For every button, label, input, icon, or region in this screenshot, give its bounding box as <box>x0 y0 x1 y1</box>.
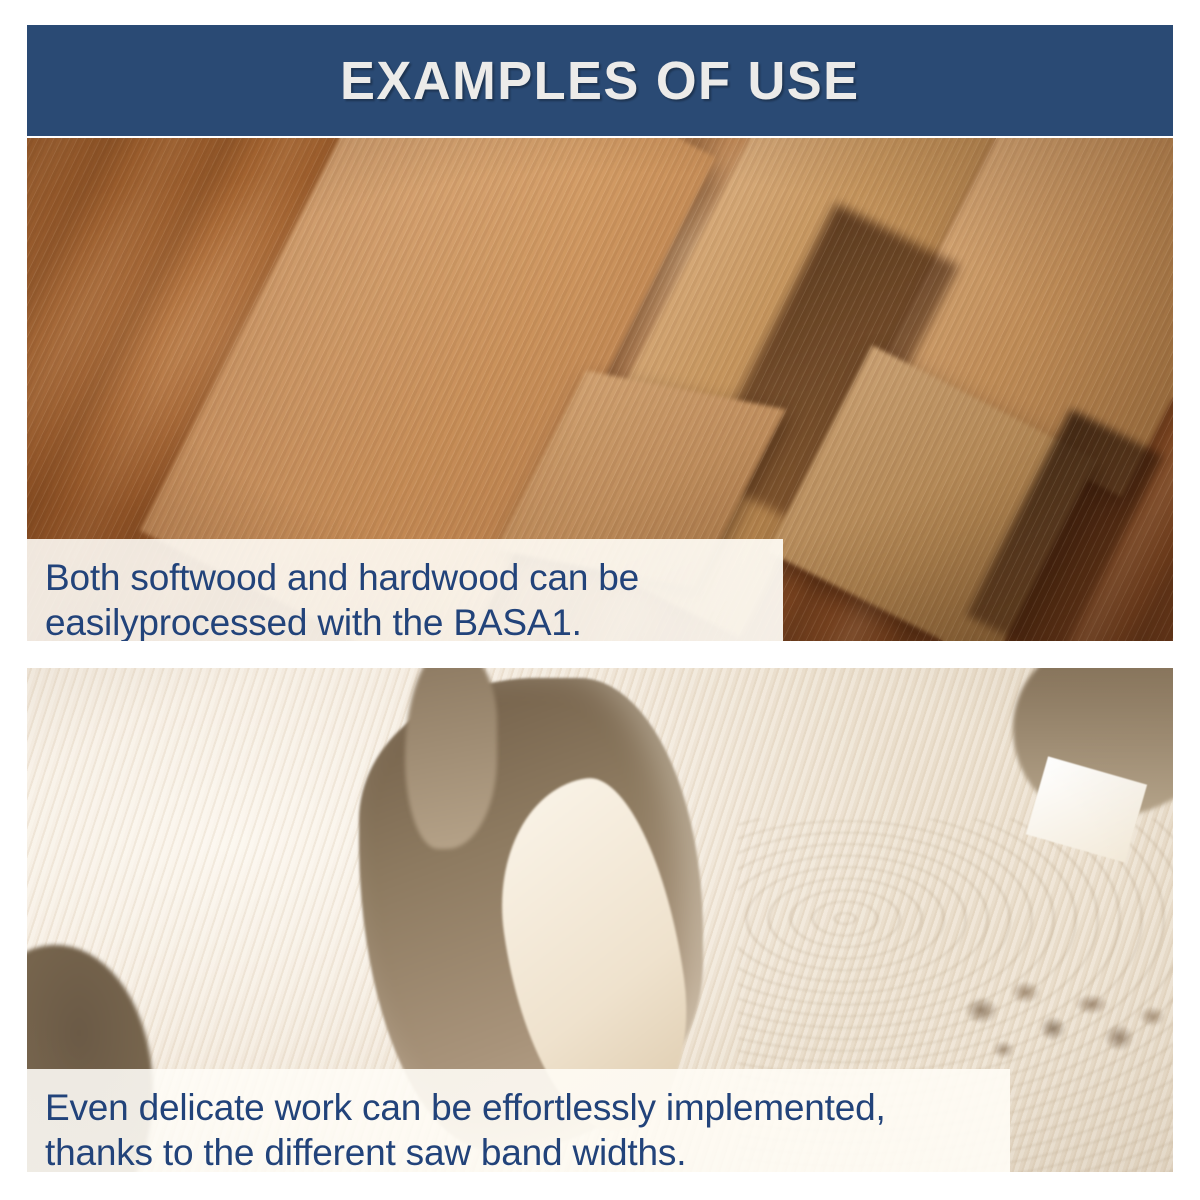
delicate-work-panel: Even delicate work can be effortlessly i… <box>27 668 1173 1172</box>
page-title: EXAMPLES OF USE <box>340 54 860 108</box>
caption-line-1: Even delicate work can be effortlessly i… <box>45 1085 992 1130</box>
header-banner: EXAMPLES OF USE <box>27 25 1173 136</box>
caption-delicate-work: Even delicate work can be effortlessly i… <box>27 1069 1010 1172</box>
caption-line-2: thanks to the different saw band widths. <box>45 1130 992 1172</box>
softwood-hardwood-panel: Both softwood and hardwood can be easily… <box>27 138 1173 641</box>
caption-line-1: Both softwood and hardwood can be <box>45 555 765 600</box>
examples-of-use-page: EXAMPLES OF USE Both softwood and hardwo… <box>0 0 1200 1200</box>
caption-line-2: easilyprocessed with the BASA1. <box>45 600 765 641</box>
caption-softwood-hardwood: Both softwood and hardwood can be easily… <box>27 539 783 641</box>
